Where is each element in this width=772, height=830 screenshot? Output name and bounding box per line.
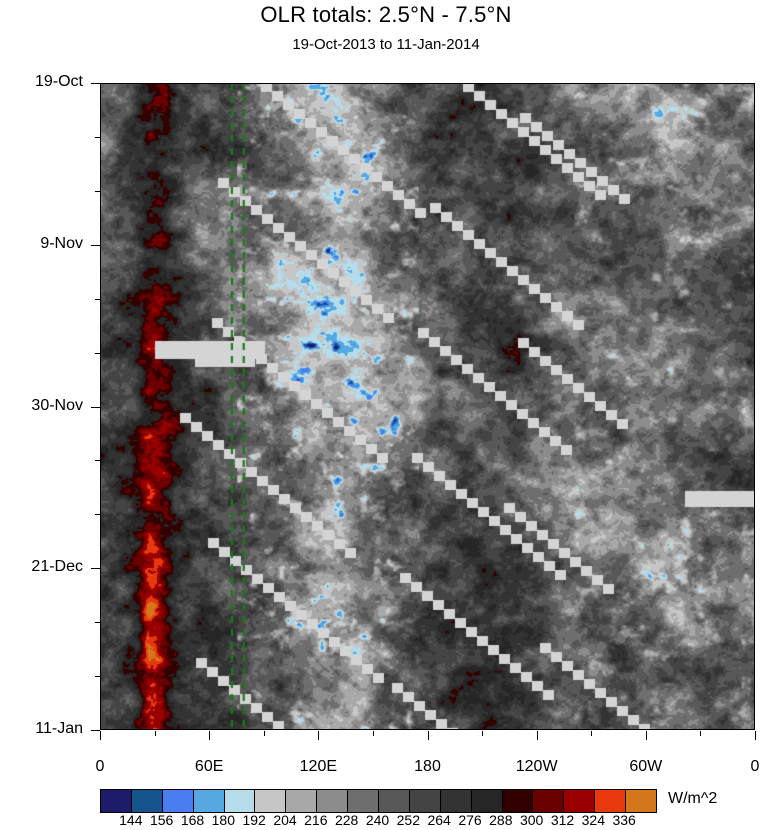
- x-axis-label-120W: 120W: [502, 758, 572, 776]
- y-axis-tick-minor: [95, 191, 100, 192]
- colorbar-tick-192: 192: [242, 812, 265, 828]
- olr-heatmap-canvas: [100, 83, 755, 730]
- date-range-subtitle: 19-Oct-2013 to 11-Jan-2014: [0, 36, 772, 53]
- colorbar-swatch-9: [379, 790, 410, 812]
- x-axis-label-60E: 60E: [174, 758, 244, 776]
- colorbar-tick-324: 324: [582, 812, 605, 828]
- x-axis-tick-major: [537, 731, 538, 740]
- colorbar-tick-336: 336: [612, 812, 635, 828]
- colorbar-tick-228: 228: [335, 812, 358, 828]
- x-axis-tick-minor: [155, 731, 156, 736]
- colorbar-swatch-15: [564, 790, 595, 812]
- y-axis-tick-major: [91, 407, 100, 408]
- y-axis-tick-major: [91, 568, 100, 569]
- colorbar-tick-264: 264: [427, 812, 450, 828]
- x-axis-tick-minor: [482, 731, 483, 736]
- y-axis-tick-major: [91, 83, 100, 84]
- x-axis-tick-major: [755, 731, 756, 740]
- x-axis-tick-major: [428, 731, 429, 740]
- colorbar-swatch-12: [472, 790, 503, 812]
- colorbar-swatch-17: [626, 790, 656, 812]
- hovmoller-figure: OLR totals: 2.5°N - 7.5°N 19-Oct-2013 to…: [0, 0, 772, 830]
- colorbar-swatch-7: [317, 790, 348, 812]
- colorbar-tick-276: 276: [458, 812, 481, 828]
- y-axis-label-21-Dec: 21-Dec: [0, 558, 83, 576]
- y-axis-tick-minor: [95, 622, 100, 623]
- y-axis-tick-minor: [95, 676, 100, 677]
- colorbar-swatch-16: [595, 790, 626, 812]
- y-axis-tick-major: [91, 245, 100, 246]
- x-axis-label-180: 180: [393, 758, 463, 776]
- colorbar-swatch-4: [225, 790, 256, 812]
- colorbar-swatch-11: [441, 790, 472, 812]
- x-axis-label-60W: 60W: [611, 758, 681, 776]
- x-axis-tick-major: [646, 731, 647, 740]
- colorbar-tick-180: 180: [212, 812, 235, 828]
- plot-area: [100, 83, 755, 730]
- colorbar-swatch-14: [533, 790, 564, 812]
- colorbar: [100, 789, 657, 813]
- y-axis-tick-minor: [95, 353, 100, 354]
- y-axis-tick-minor: [95, 299, 100, 300]
- colorbar-tick-144: 144: [119, 812, 142, 828]
- y-axis-label-19-Oct: 19-Oct: [0, 73, 83, 91]
- x-axis-tick-major: [209, 731, 210, 740]
- colorbar-swatch-0: [101, 790, 132, 812]
- x-axis-tick-minor: [591, 731, 592, 736]
- y-axis-label-30-Nov: 30-Nov: [0, 397, 83, 415]
- colorbar-swatch-8: [348, 790, 379, 812]
- x-axis-tick-minor: [264, 731, 265, 736]
- x-axis-tick-major: [318, 731, 319, 740]
- colorbar-tick-168: 168: [181, 812, 204, 828]
- y-axis-tick-major: [91, 730, 100, 731]
- x-axis-label-120E: 120E: [283, 758, 353, 776]
- colorbar-swatch-3: [194, 790, 225, 812]
- x-axis-tick-major: [100, 731, 101, 740]
- units-label: W/m^2: [668, 790, 717, 808]
- x-axis-tick-minor: [373, 731, 374, 736]
- colorbar-tick-labels: 1441561681801922042162282402522642762883…: [100, 812, 655, 830]
- colorbar-tick-252: 252: [397, 812, 420, 828]
- colorbar-swatch-5: [255, 790, 286, 812]
- colorbar-tick-288: 288: [489, 812, 512, 828]
- y-axis-tick-minor: [95, 137, 100, 138]
- x-axis-label-0: 0: [720, 758, 772, 776]
- x-axis-label-0: 0: [65, 758, 135, 776]
- y-axis-tick-minor: [95, 460, 100, 461]
- y-axis-tick-minor: [95, 514, 100, 515]
- page-title: OLR totals: 2.5°N - 7.5°N: [0, 2, 772, 28]
- colorbar-swatch-6: [286, 790, 317, 812]
- colorbar-tick-204: 204: [273, 812, 296, 828]
- colorbar-tick-156: 156: [150, 812, 173, 828]
- colorbar-swatch-2: [163, 790, 194, 812]
- colorbar-tick-312: 312: [551, 812, 574, 828]
- y-axis-label-9-Nov: 9-Nov: [0, 235, 83, 253]
- colorbar-swatch-13: [503, 790, 534, 812]
- colorbar-tick-240: 240: [366, 812, 389, 828]
- colorbar-tick-216: 216: [304, 812, 327, 828]
- colorbar-swatch-1: [132, 790, 163, 812]
- x-axis-tick-minor: [700, 731, 701, 736]
- colorbar-tick-300: 300: [520, 812, 543, 828]
- colorbar-swatch-10: [410, 790, 441, 812]
- y-axis-label-11-Jan: 11-Jan: [0, 720, 83, 738]
